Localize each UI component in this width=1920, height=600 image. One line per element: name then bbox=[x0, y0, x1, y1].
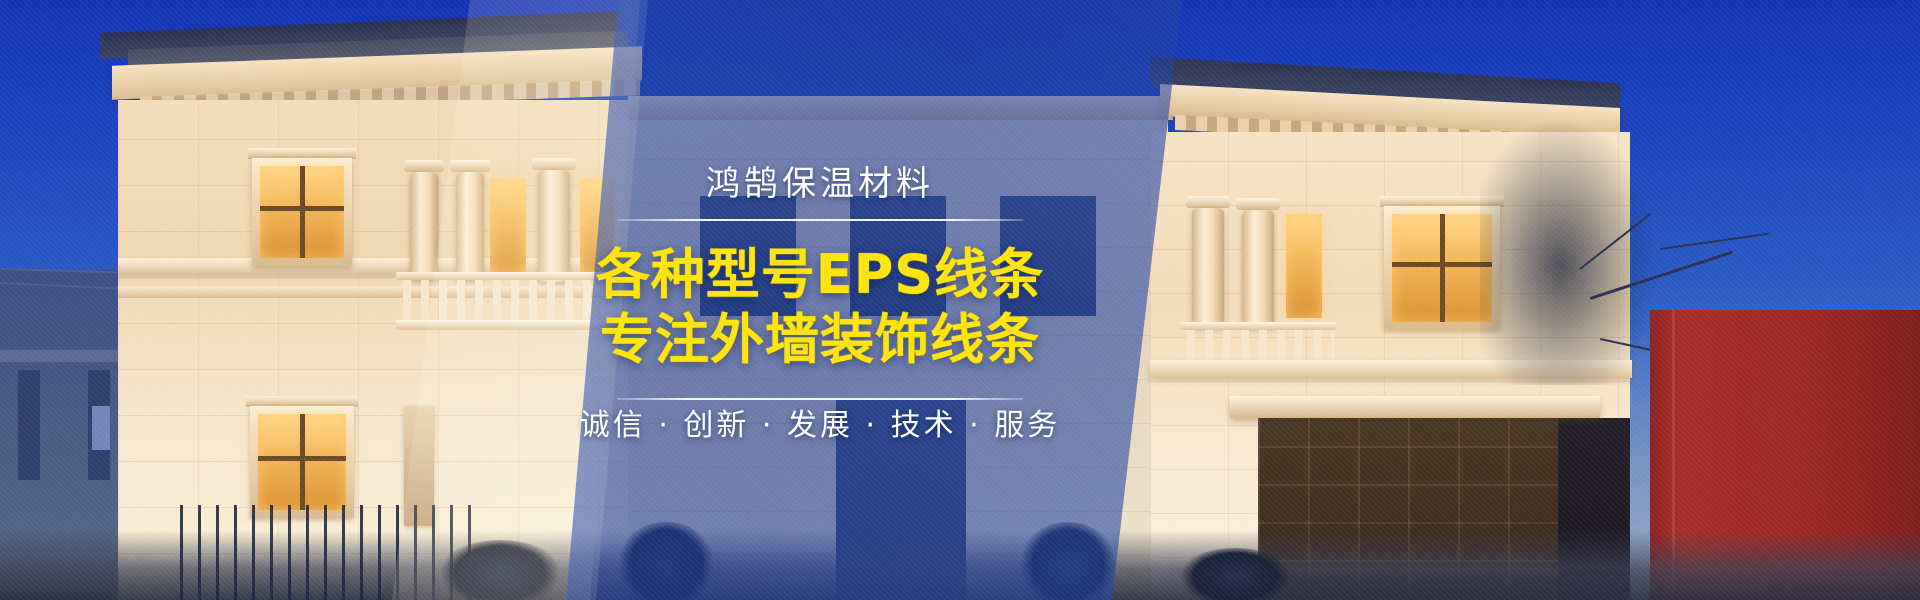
promo-banner: 鸿鹄保温材料 各种型号EPS线条 专注外墙装饰线条 诚信 · 创新 · 发展 ·… bbox=[0, 0, 1920, 600]
brand-title: 鸿鹄保温材料 bbox=[706, 156, 934, 205]
column-capital bbox=[1186, 196, 1230, 208]
headline-line-1: 各种型号EPS线条 bbox=[596, 243, 1044, 308]
garage-lintel bbox=[1230, 396, 1600, 418]
window-mullion-horizontal bbox=[1392, 262, 1492, 267]
window-mullion-vertical bbox=[1440, 214, 1445, 322]
balcony-rail bbox=[1180, 322, 1336, 330]
tagline: 诚信 · 创新 · 发展 · 技术 · 服务 bbox=[580, 400, 1060, 444]
banner-content: 鸿鹄保温材料 各种型号EPS线条 专注外墙装饰线条 诚信 · 创新 · 发展 ·… bbox=[560, 0, 1080, 600]
porch-column bbox=[1192, 208, 1224, 328]
porch-column bbox=[1242, 210, 1274, 328]
divider-top bbox=[617, 219, 1023, 221]
column-capital bbox=[1236, 198, 1280, 210]
headline-line-2: 专注外墙装饰线条 bbox=[600, 308, 1040, 373]
lit-window bbox=[1392, 214, 1492, 322]
lit-window bbox=[1286, 214, 1322, 318]
shrub bbox=[1180, 548, 1290, 600]
